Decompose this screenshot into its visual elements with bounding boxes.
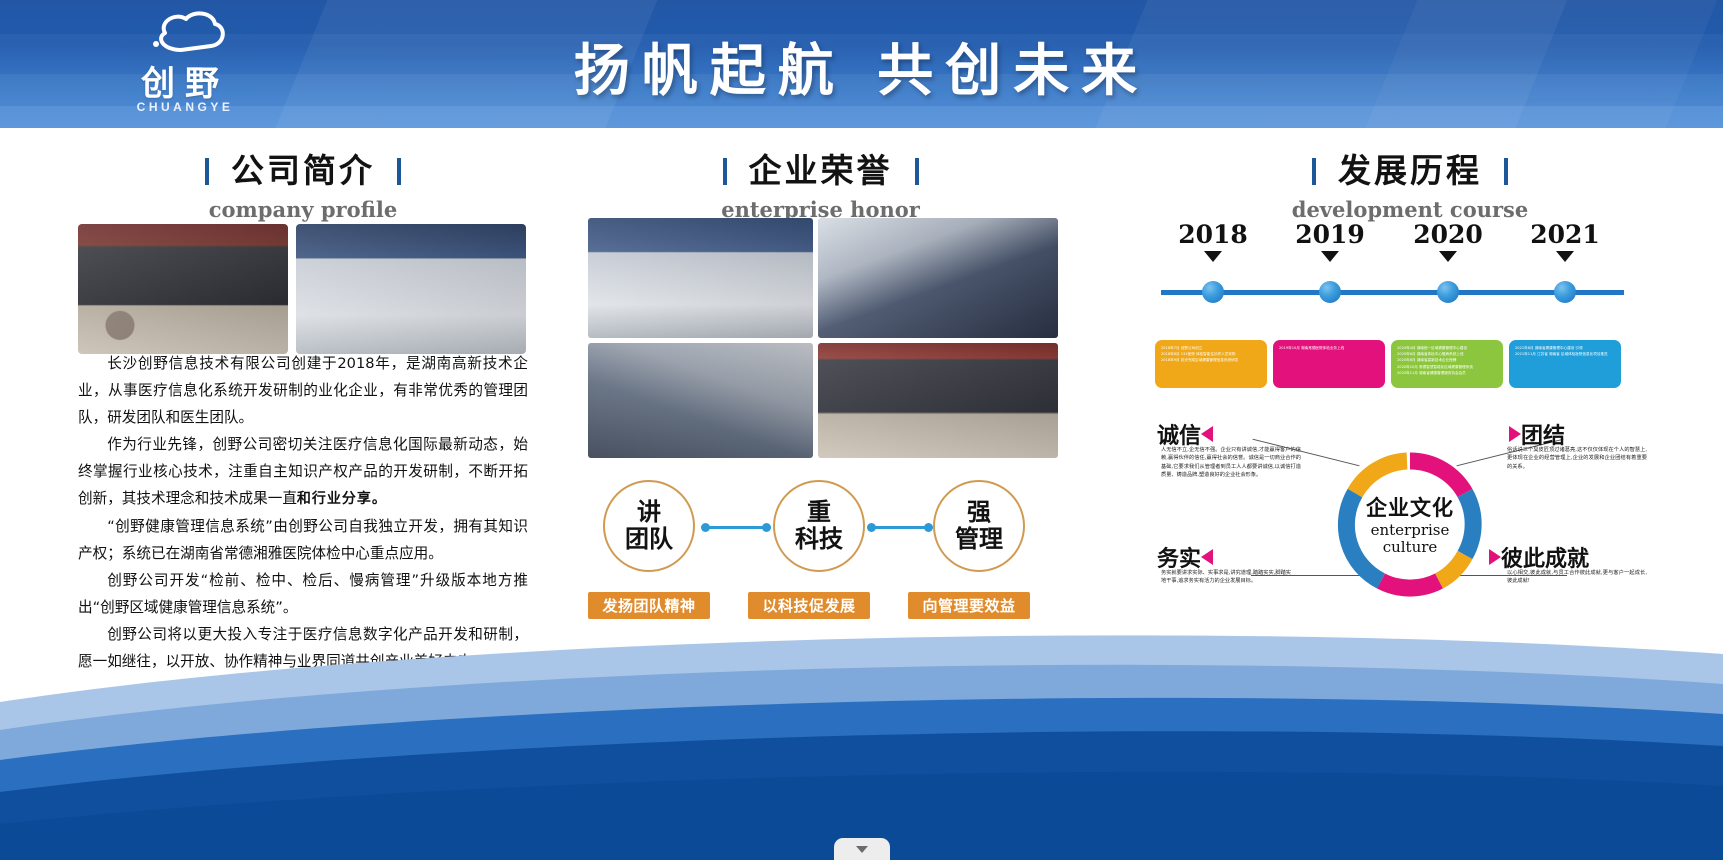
poster-header: 创野 CHUANGYE 扬帆起航 共创未来 — [0, 0, 1723, 128]
timeline-card-2021-list: 2021年8月 湖南省健康管理中心建设 引领 2021年11月 江苏省 湖南省 … — [1515, 345, 1615, 357]
value-circle-team: 讲团队 — [603, 480, 695, 572]
profile-photo-team — [78, 224, 288, 354]
timeline-dot-2018 — [1202, 281, 1224, 303]
timeline-dot-2020 — [1437, 281, 1459, 303]
course-section-title: 发展历程 development course — [1155, 144, 1665, 222]
value-circle-tech-line1: 重 — [807, 498, 831, 526]
profile-paragraph-2: 作为行业先锋，创野公司密切关注医疗信息化国际最新动态，始终掌握行业核心技术，注重… — [78, 431, 528, 513]
list-item: 2021年11月 江苏省 湖南省 区域体检医院信息化项目推进 — [1515, 351, 1615, 357]
timeline-card-2018: 2018年7月 创野公司创立 2018年8月 131医院 体检智能住诊终人员采购… — [1155, 340, 1267, 388]
honor-values-flow: 讲团队 重科技 强管理 发扬团队精神 以科技促发展 向管理要效益 — [588, 480, 1053, 620]
timeline-year-2021: 2021 — [1520, 220, 1610, 262]
arrow-left-icon — [1201, 549, 1213, 565]
footer-wave-decoration — [0, 610, 1723, 860]
chevron-down-icon — [856, 846, 868, 853]
value-circle-management-line1: 强 — [967, 498, 991, 526]
title-bar-left — [723, 158, 727, 185]
title-bar-right — [915, 158, 919, 185]
value-circle-tech-line2: 科技 — [795, 525, 843, 553]
culture-body-mutual: 以心相交,彼此成就,与员工合作彼此成就,更与客户一起成长,彼此成就! — [1507, 569, 1647, 586]
culture-center-cn: 企业文化 — [1366, 492, 1454, 522]
honor-photo-4 — [818, 343, 1058, 458]
culture-body-unity: 俗话说三个臭皮匠顶过诸葛亮,这不仅仅体现在个人的智慧上,更体现在企业的经营管理上… — [1507, 446, 1647, 471]
culture-body-integrity: 人无信不立,企无信不强。企业只有讲诚信,才能赢得客户的信赖,赢得伙伴的信任,赢得… — [1161, 446, 1301, 480]
culture-center-en-line2: culture — [1383, 538, 1438, 556]
timeline-year-2018-label: 2018 — [1178, 220, 1248, 249]
timeline-card-2020-list: 2020年4月 湖南统一区域健康管理中心建设 2020年6月 湖南省体检中心慢病… — [1397, 345, 1497, 376]
timeline-card-2020: 2020年4月 湖南统一区域健康管理中心建设 2020年6月 湖南省体检中心慢病… — [1391, 340, 1503, 388]
culture-ring-center: 企业文化 enterprise culture — [1336, 450, 1484, 598]
timeline-card-2021: 2021年8月 湖南省健康管理中心建设 引领 2021年11月 江苏省 湖南省 … — [1509, 340, 1621, 388]
poster-canvas: 创野 CHUANGYE 扬帆起航 共创未来 公司简介 company profi… — [0, 0, 1723, 860]
timeline-card-2019: 2019年10月 湖南常德医院体检业务上线 — [1273, 340, 1385, 388]
honor-photo-3 — [588, 343, 813, 458]
scroll-down-nub[interactable] — [834, 838, 890, 860]
profile-title-en: company profile — [78, 197, 528, 222]
triangle-marker-icon — [1321, 251, 1339, 262]
flow-connector-2 — [871, 526, 929, 529]
timeline-year-2021-label: 2021 — [1530, 220, 1600, 249]
value-circle-management-line2: 管理 — [955, 525, 1003, 553]
value-circle-team-line1: 讲 — [637, 498, 661, 526]
profile-title-cn: 公司简介 — [231, 151, 375, 190]
culture-center-en-line1: enterprise — [1371, 521, 1450, 539]
profile-section-title: 公司简介 company profile — [78, 144, 528, 222]
culture-center-en: enterprise culture — [1371, 522, 1450, 556]
profile-paragraph-1: 长沙创野信息技术有限公司创建于2018年，是湖南高新技术企业，从事医疗信息化系统… — [78, 350, 528, 431]
list-item: 2020年11月 湖南省健康管理服务协会会员 — [1397, 370, 1497, 376]
triangle-marker-icon — [1204, 251, 1222, 262]
list-item: 2019年10月 湖南常德医院体检业务上线 — [1279, 345, 1379, 351]
timeline-years: 2018 2019 2020 2021 — [1155, 220, 1665, 268]
timeline-year-2020: 2020 — [1403, 220, 1493, 262]
title-bar-left — [205, 158, 209, 185]
timeline-card-2018-list: 2018年7月 创野公司创立 2018年8月 131医院 体检智能住诊终人员采购… — [1161, 345, 1261, 364]
value-circle-tech: 重科技 — [773, 480, 865, 572]
course-title-cn: 发展历程 — [1338, 151, 1482, 190]
honor-section-title: 企业荣誉 enterprise honor — [588, 144, 1053, 222]
poster-main-title: 扬帆起航 共创未来 — [0, 26, 1723, 107]
honor-photo-2 — [818, 218, 1058, 338]
timeline-year-2019: 2019 — [1285, 220, 1375, 262]
list-item: 2018年9月 初步完成区域健康管理信息系统研发 — [1161, 357, 1261, 363]
arrow-right-icon — [1489, 549, 1501, 565]
title-bar-right — [1504, 158, 1508, 185]
honor-photo-1 — [588, 218, 813, 338]
triangle-marker-icon — [1556, 251, 1574, 262]
value-circle-team-line2: 团队 — [625, 525, 673, 553]
title-bar-left — [1312, 158, 1316, 185]
arrow-right-icon — [1509, 426, 1521, 442]
honor-photo-grid — [588, 218, 1053, 458]
profile-handwritten-tail: 和行业分享。 — [297, 491, 387, 507]
timeline-dot-2019 — [1319, 281, 1341, 303]
culture-body-pragmatism: 务实就要讲求实际、实事求是,讲究道理,踏踏实实,脚踏实地干事,追求务实有活力的企… — [1161, 569, 1291, 586]
title-bar-right — [397, 158, 401, 185]
timeline-year-2018: 2018 — [1168, 220, 1258, 262]
timeline-year-2020-label: 2020 — [1413, 220, 1483, 249]
honor-title-cn: 企业荣誉 — [749, 151, 893, 190]
flow-connector-1 — [705, 526, 767, 529]
culture-ring: 企业文化 enterprise culture — [1336, 450, 1484, 598]
timeline-dot-2021 — [1554, 281, 1576, 303]
value-circle-management: 强管理 — [933, 480, 1025, 572]
profile-photo-lobby — [296, 224, 526, 354]
course-title-en: development course — [1155, 197, 1665, 222]
timeline-year-2019-label: 2019 — [1295, 220, 1365, 249]
arrow-left-icon — [1201, 426, 1213, 442]
triangle-marker-icon — [1439, 251, 1457, 262]
timeline-card-2019-list: 2019年10月 湖南常德医院体检业务上线 — [1279, 345, 1379, 351]
profile-paragraph-3: “创野健康管理信息系统”由创野公司自我独立开发，拥有其知识产权；系统已在湖南省常… — [78, 513, 528, 567]
